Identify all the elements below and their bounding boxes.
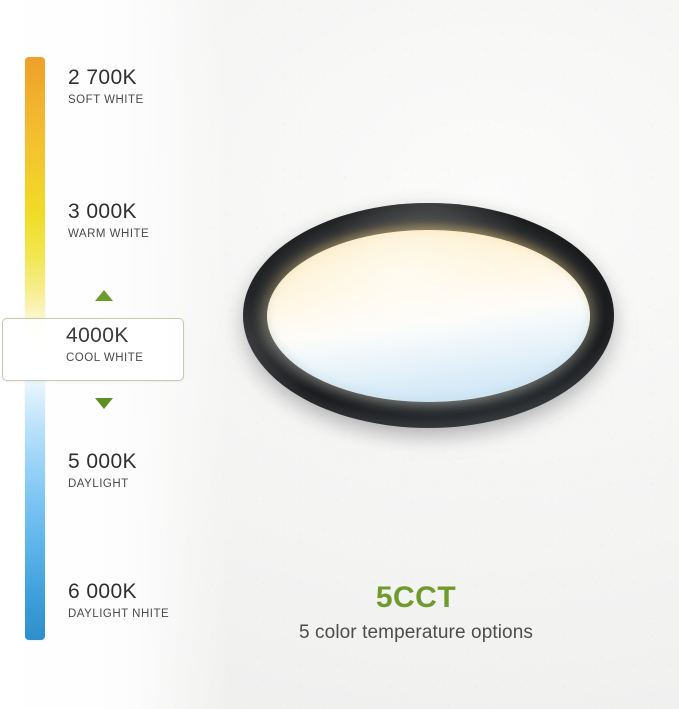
cct-level-2700k[interactable]: 2 700K SOFT WHITE	[68, 66, 144, 108]
cct-level-name: DAYLIGHT	[68, 477, 137, 492]
cct-level-name: DAYLIGHT NHITE	[68, 607, 169, 622]
cct-kelvin-value: 2 700K	[68, 66, 144, 90]
cct-kelvin-value: 6 000K	[68, 580, 169, 604]
arrow-up-icon	[95, 290, 113, 301]
cct-kelvin-value: 5 000K	[68, 450, 137, 474]
lamp-diffuser-gloss	[267, 230, 590, 402]
cct-level-name: WARM WHITE	[68, 227, 149, 242]
cct-level-4000k[interactable]: 4000K COOL WHITE	[66, 324, 143, 366]
cct-kelvin-value: 4000K	[66, 324, 143, 348]
color-temperature-scale: 2 700K SOFT WHITE 3 000K WARM WHITE 4000…	[0, 0, 240, 709]
arrow-down-icon	[95, 398, 113, 409]
caption-subtitle: 5 color temperature options	[236, 620, 596, 646]
caption: 5CCT 5 color temperature options	[236, 580, 596, 646]
cct-level-6000k[interactable]: 6 000K DAYLIGHT NHITE	[68, 580, 169, 622]
cct-level-3000k[interactable]: 3 000K WARM WHITE	[68, 200, 149, 242]
caption-title: 5CCT	[236, 580, 596, 616]
cct-level-name: SOFT WHITE	[68, 93, 144, 108]
cct-level-name: COOL WHITE	[66, 351, 143, 366]
ceiling-light-product-image	[243, 203, 614, 428]
cct-kelvin-value: 3 000K	[68, 200, 149, 224]
cct-level-5000k[interactable]: 5 000K DAYLIGHT	[68, 450, 137, 492]
